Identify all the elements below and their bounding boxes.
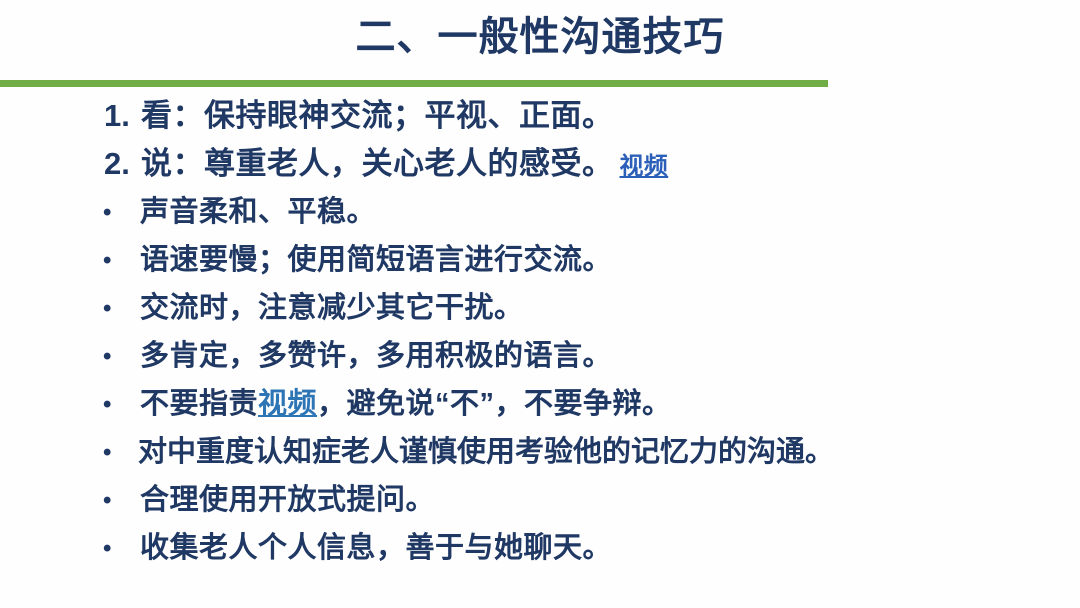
title-underline-rule xyxy=(0,80,828,87)
list-item-text: 合理使用开放式提问。 xyxy=(140,476,435,524)
list-item-bullet-5: • 不要指责视频，避免说“不”，不要争辩。 xyxy=(0,380,1080,428)
list-item-text: 不要指责视频，避免说“不”，不要争辩。 xyxy=(140,380,672,428)
bullet-icon: • xyxy=(103,188,111,238)
list-item-text-prefix: 不要指责 xyxy=(140,388,258,420)
list-item-text: 声音柔和、平稳。 xyxy=(140,188,376,236)
list-item-text: 说：尊重老人，关心老人的感受。视频 xyxy=(141,140,668,191)
list-item-text-body: 说：尊重老人，关心老人的感受。 xyxy=(141,146,614,181)
list-item-bullet-6: • 对中重度认知症老人谨慎使用考验他的记忆力的沟通。 xyxy=(0,428,1080,476)
list-item-text: 交流时，注意减少其它干扰。 xyxy=(140,284,524,332)
list-item-numbered-2: 2. 说：尊重老人，关心老人的感受。视频 xyxy=(0,140,1080,188)
bullet-icon: • xyxy=(103,476,111,526)
list-item-numbered-1: 1. 看：保持眼神交流；平视、正面。 xyxy=(0,92,1080,140)
list-marker-number: 2. xyxy=(104,140,130,188)
list-item-text: 对中重度认知症老人谨慎使用考验他的记忆力的沟通。 xyxy=(138,428,834,476)
list-item-bullet-7: • 合理使用开放式提问。 xyxy=(0,476,1080,524)
bullet-icon: • xyxy=(103,380,111,430)
video-link[interactable]: 视频 xyxy=(614,153,669,180)
list-item-bullet-8: • 收集老人个人信息，善于与她聊天。 xyxy=(0,524,1080,572)
list-item-bullet-2: • 语速要慢；使用简短语言进行交流。 xyxy=(0,236,1080,284)
list-item-bullet-1: • 声音柔和、平稳。 xyxy=(0,188,1080,236)
bullet-icon: • xyxy=(103,284,111,334)
bullet-icon: • xyxy=(103,524,111,574)
list-item-text: 收集老人个人信息，善于与她聊天。 xyxy=(140,524,612,572)
bullet-icon: • xyxy=(103,428,111,478)
list-marker-number: 1. xyxy=(104,92,130,140)
title-area: 二、一般性沟通技巧 xyxy=(0,14,1080,76)
list-item-text: 语速要慢；使用简短语言进行交流。 xyxy=(140,236,612,284)
video-link[interactable]: 视频 xyxy=(258,388,317,420)
list-item-text-suffix: ，避免说“不”，不要争辩。 xyxy=(317,388,672,420)
list-item-bullet-4: • 多肯定，多赞许，多用积极的语言。 xyxy=(0,332,1080,380)
body-content-list: 1. 看：保持眼神交流；平视、正面。 2. 说：尊重老人，关心老人的感受。视频 … xyxy=(0,92,1080,572)
slide-canvas: 二、一般性沟通技巧 1. 看：保持眼神交流；平视、正面。 2. 说：尊重老人，关… xyxy=(0,0,1080,608)
list-item-text: 多肯定，多赞许，多用积极的语言。 xyxy=(140,332,612,380)
page-title: 二、一般性沟通技巧 xyxy=(356,14,725,60)
bullet-icon: • xyxy=(103,332,111,382)
list-item-bullet-3: • 交流时，注意减少其它干扰。 xyxy=(0,284,1080,332)
list-item-text: 看：保持眼神交流；平视、正面。 xyxy=(141,92,614,140)
bullet-icon: • xyxy=(103,236,111,286)
